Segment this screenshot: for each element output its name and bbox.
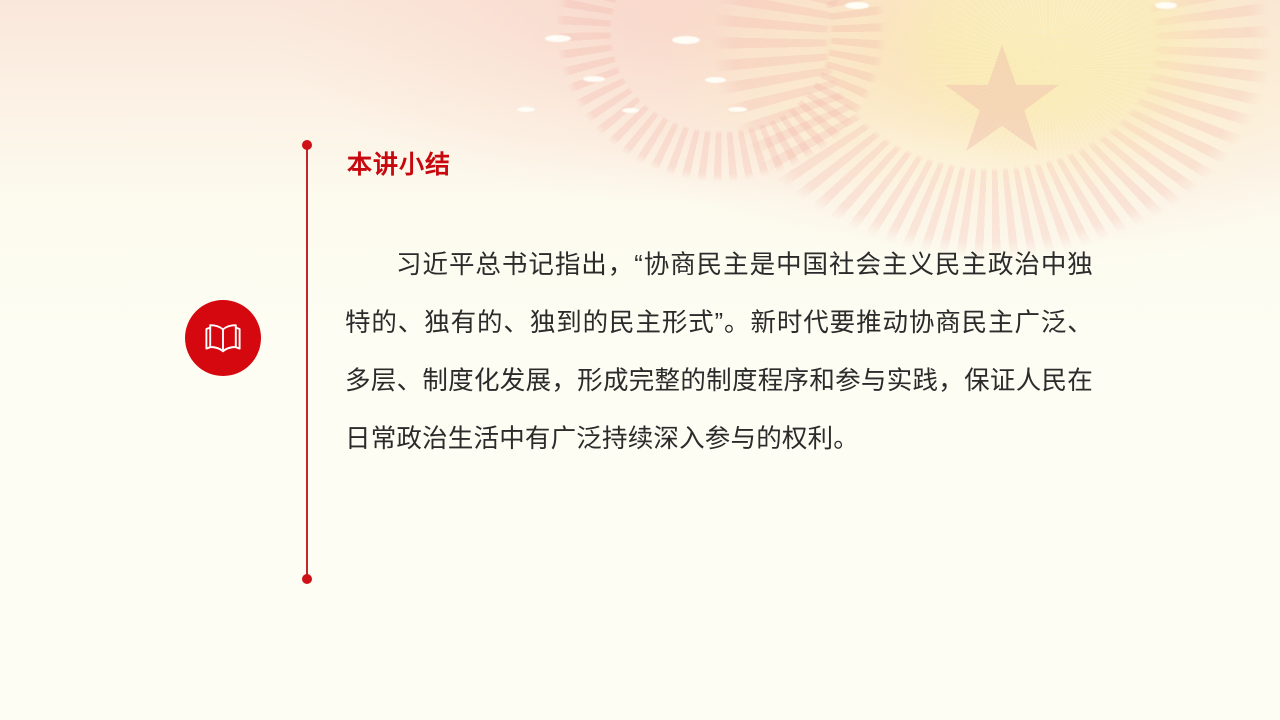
- slide-canvas: 本讲小结 习近平总书记指出，“协商民主是中国社会主义民主政治中独特的、独有的、独…: [0, 0, 1280, 720]
- sunburst-rays-icon: [898, 0, 1198, 180]
- book-badge: [185, 300, 261, 376]
- open-book-icon: [203, 322, 243, 354]
- sparkle-icon: [622, 108, 639, 113]
- sparkle-icon: [1155, 2, 1177, 9]
- sparkle-icon: [583, 76, 605, 82]
- sparkle-icon: [517, 107, 535, 112]
- timeline-dot-bottom: [302, 574, 312, 584]
- sparkle-icon: [845, 2, 869, 9]
- serrated-medallion-icon: [712, 0, 1272, 258]
- timeline-dot-top: [302, 140, 312, 150]
- sparkle-icon: [705, 77, 726, 83]
- timeline-rule-group: [306, 145, 308, 579]
- page-title: 本讲小结: [347, 148, 451, 182]
- sparkle-icon: [545, 35, 571, 42]
- serrated-medallion-secondary-icon: [556, 0, 886, 182]
- sparkle-icon: [728, 107, 747, 112]
- summary-paragraph: 习近平总书记指出，“协商民主是中国社会主义民主政治中独特的、独有的、独到的民主形…: [345, 236, 1093, 468]
- vertical-rule: [306, 145, 308, 579]
- golden-glow-disc: [838, 0, 1258, 180]
- sparkle-icon: [672, 36, 700, 44]
- five-pointed-star-icon: [942, 42, 1062, 157]
